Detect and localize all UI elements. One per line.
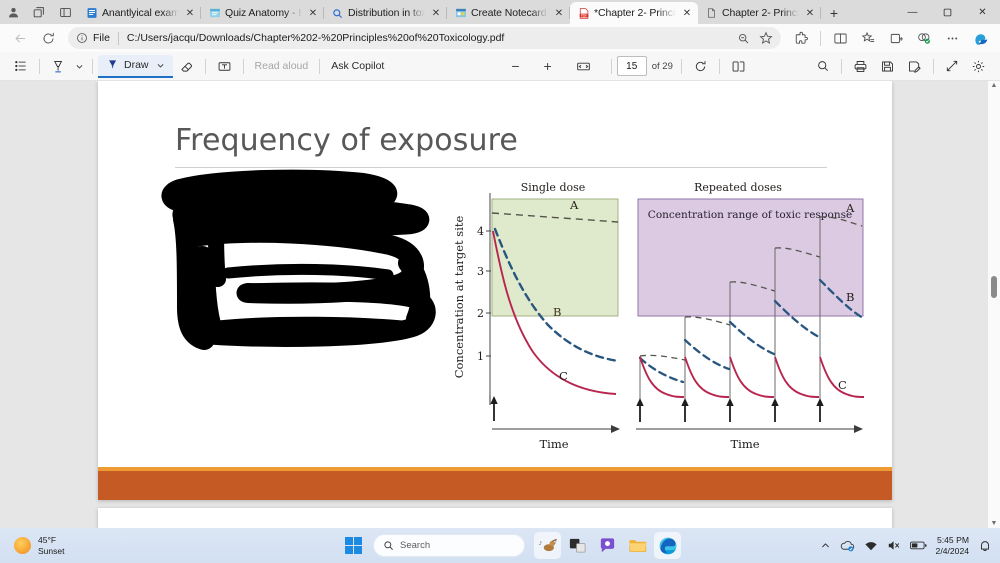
refresh-icon[interactable] [34, 26, 62, 50]
divider [39, 59, 40, 74]
doc-blue-icon [85, 7, 98, 20]
curve-label-B-single: B [553, 305, 561, 319]
pen-icon [106, 58, 120, 72]
zoom-out-icon[interactable] [737, 32, 750, 45]
search-placeholder: Search [400, 540, 430, 551]
onedrive-icon[interactable] [840, 539, 855, 552]
tab-actions-icon[interactable] [52, 0, 78, 24]
battery-icon[interactable] [910, 540, 927, 551]
zoom-in-button[interactable]: + [538, 56, 558, 77]
taskbar-center-group: Search ♪♪ [340, 532, 681, 559]
scroll-down-arrow[interactable]: ▼ [990, 520, 998, 527]
file-explorer-icon[interactable] [624, 532, 651, 559]
navigation-bar: File C:/Users/jacqu/Downloads/Chapter%20… [0, 24, 1000, 52]
star-icon[interactable] [759, 31, 773, 45]
copilot-icon[interactable] [966, 26, 994, 50]
dose-arrows-repeated [636, 398, 823, 422]
tab-close-icon[interactable]: ✕ [429, 6, 443, 20]
panel-label-single-dose: Single dose [521, 181, 586, 194]
slide-footer-band [98, 467, 892, 500]
new-tab-button[interactable]: + [821, 2, 847, 24]
divider [319, 59, 320, 74]
account-icon[interactable] [0, 0, 26, 24]
tab-close-icon[interactable]: ✕ [306, 6, 320, 20]
slide-footer-stripe [98, 467, 892, 471]
taskbar-app-icons: ♪♪ [534, 532, 681, 559]
taskbar-search-box[interactable]: Search [373, 534, 525, 557]
divider [205, 59, 206, 74]
weather-temperature: 45°F [38, 535, 64, 546]
curve-C-repeated [640, 357, 864, 397]
tabs-container: Anantlyical exam 1 - ✕ Quiz Anatomy - Ea… [78, 0, 895, 24]
favorites-icon[interactable] [854, 26, 882, 50]
svg-text:PDF: PDF [580, 13, 586, 17]
back-arrow-icon[interactable] [6, 26, 34, 50]
browser-window: Anantlyical exam 1 - ✕ Quiz Anatomy - Ea… [0, 0, 1000, 563]
file-icon [705, 7, 718, 20]
divider [92, 59, 93, 74]
svg-text:2: 2 [477, 307, 484, 320]
tab-strip: Anantlyical exam 1 - ✕ Quiz Anatomy - Ea… [0, 0, 1000, 24]
pdf-viewport[interactable]: Frequency of exposure Single dose Repeat… [0, 81, 1000, 528]
draw-tool-button[interactable]: Draw [98, 55, 173, 78]
page-total-label: of 29 [652, 61, 673, 72]
window-controls: — ✕ [895, 0, 1000, 24]
tab-title: Create Notecard Set [471, 7, 548, 19]
taskbar-time[interactable]: 5:45 PM [936, 535, 969, 546]
svg-text:4: 4 [477, 225, 484, 238]
tab-title: Distribution in toxic [348, 7, 425, 19]
x-axis-label-repeated: Time [730, 437, 759, 451]
panel-label-repeated-doses: Repeated doses [694, 181, 782, 194]
bullet-dot [180, 233, 184, 237]
notification-bell-icon[interactable] [978, 539, 992, 553]
curve-label-A-repeated: A [845, 201, 855, 215]
browser-tab-5-active[interactable]: PDF *Chapter 2- Principl ✕ [570, 2, 698, 24]
pdf-toolbar: Draw Read aloud Ask Copilot − + 15 of 29 [0, 52, 1000, 81]
windows-start-icon[interactable] [340, 532, 367, 559]
slide-bullet-list [180, 233, 184, 347]
browser-essentials-icon[interactable] [910, 26, 938, 50]
browser-tab-4[interactable]: Create Notecard Set ✕ [447, 2, 570, 24]
read-aloud-button[interactable]: Read aloud [249, 56, 315, 77]
eraser-icon[interactable] [173, 56, 200, 77]
fit-page-icon[interactable] [570, 56, 597, 77]
rotate-icon[interactable] [687, 56, 714, 77]
notecard-icon [454, 7, 467, 20]
tab-title: *Chapter 2- Principl [594, 7, 676, 19]
divider [719, 59, 720, 74]
ask-copilot-button[interactable]: Ask Copilot [325, 56, 390, 77]
maximize-button[interactable] [930, 0, 965, 24]
weather-widget[interactable]: 45°F Sunset [0, 535, 64, 557]
save-icon[interactable] [874, 56, 901, 77]
close-button[interactable]: ✕ [965, 0, 1000, 24]
pdf-page-16-partial [98, 508, 892, 528]
divider [820, 31, 821, 46]
split-screen-icon[interactable] [826, 26, 854, 50]
minimize-button[interactable]: — [895, 0, 930, 24]
page-view-icon[interactable] [725, 56, 752, 77]
tab-title: Quiz Anatomy - Eas [225, 7, 302, 19]
divider [611, 59, 612, 74]
weather-condition: Sunset [38, 546, 64, 557]
info-circle-icon[interactable] [76, 32, 88, 44]
system-tray: 5:45 PM 2/4/2024 [820, 535, 992, 557]
table-of-contents-icon[interactable] [8, 56, 34, 77]
browser-tab-6[interactable]: Chapter 2- Principle ✕ [698, 2, 821, 24]
tab-close-icon[interactable]: ✕ [183, 6, 197, 20]
draw-chevron-down-icon[interactable] [156, 61, 165, 70]
curve-label-C-single: C [559, 369, 568, 383]
wifi-icon[interactable] [864, 540, 878, 552]
highlight-chevron-down-icon[interactable] [72, 56, 87, 77]
gear-icon[interactable] [965, 56, 992, 77]
tab-title: Anantlyical exam 1 - [102, 7, 179, 19]
windows-taskbar: 45°F Sunset Search ♪♪ [0, 528, 1000, 563]
save-as-icon[interactable] [901, 56, 928, 77]
concentration-vs-time-chart: Single dose Repeated doses Concentration… [448, 177, 868, 452]
scroll-up-arrow[interactable]: ▲ [990, 82, 998, 89]
browser-tab-1[interactable]: Anantlyical exam 1 - ✕ [78, 2, 201, 24]
bullet-dot [180, 271, 184, 275]
x-axis-label-single: Time [539, 437, 568, 451]
volume-muted-icon[interactable] [887, 539, 901, 552]
title-underline [175, 167, 827, 168]
edge-icon[interactable] [654, 532, 681, 559]
collections-icon[interactable] [882, 26, 910, 50]
svg-text:♪: ♪ [538, 541, 541, 547]
chat-icon[interactable] [594, 532, 621, 559]
toxicology-figure: Single dose Repeated doses Concentration… [448, 177, 868, 452]
browser-tab-2[interactable]: Quiz Anatomy - Eas ✕ [201, 2, 324, 24]
taskbar-date[interactable]: 2/4/2024 [936, 546, 969, 557]
settings-more-icon[interactable] [938, 26, 966, 50]
quiz-icon [208, 7, 221, 20]
zoom-out-button[interactable]: − [505, 56, 525, 77]
url-text: C:/Users/jacqu/Downloads/Chapter%202-%20… [127, 32, 732, 44]
bullet-dot [180, 309, 184, 313]
curve-label-B-repeated: B [846, 290, 854, 304]
extension-puzzle-icon[interactable] [787, 26, 815, 50]
svg-text:1: 1 [477, 350, 484, 363]
svg-text:3: 3 [477, 265, 484, 278]
browser-toolbar-actions [787, 26, 994, 50]
add-text-icon[interactable] [211, 56, 238, 77]
divider [681, 59, 682, 74]
svg-text:♪: ♪ [553, 539, 556, 545]
task-view-icon[interactable] [564, 532, 591, 559]
print-icon[interactable] [847, 56, 874, 77]
address-bar[interactable]: File C:/Users/jacqu/Downloads/Chapter%20… [68, 27, 781, 49]
search-icon[interactable] [810, 56, 836, 77]
draw-label: Draw [124, 59, 149, 71]
pdf-icon: PDF [577, 7, 590, 20]
sunset-icon [14, 537, 31, 554]
black-ink-scribble [158, 167, 458, 367]
url-scheme-label: File [93, 32, 110, 44]
search-icon [331, 7, 344, 20]
tab-close-icon[interactable]: ✕ [803, 6, 817, 20]
curve-label-A-single: A [569, 198, 579, 212]
toxic-range-label: Concentration range of toxic response [648, 209, 852, 221]
highlighter-icon[interactable] [45, 56, 72, 77]
pdf-page-15: Frequency of exposure Single dose Repeat… [98, 81, 892, 500]
fullscreen-icon[interactable] [939, 56, 965, 77]
tab-close-icon[interactable]: ✕ [680, 6, 694, 20]
page-number-input[interactable]: 15 [617, 56, 647, 76]
divider [118, 32, 119, 45]
browser-tab-3[interactable]: Distribution in toxic ✕ [324, 2, 447, 24]
scrollbar-thumb[interactable] [991, 276, 997, 298]
search-icon [383, 540, 394, 551]
tab-title: Chapter 2- Principle [722, 7, 799, 19]
chevron-up-icon[interactable] [820, 540, 831, 551]
tab-close-icon[interactable]: ✕ [552, 6, 566, 20]
y-axis-label: Concentration at target site [452, 216, 466, 379]
slide-title: Frequency of exposure [175, 123, 825, 158]
vertical-scrollbar[interactable]: ▲ ▼ [988, 81, 1000, 528]
toxic-range-band-green [492, 199, 618, 316]
y-axis-ticks: 4 3 2 1 [477, 225, 491, 363]
copilot-taskview-icon[interactable]: ♪♪ [534, 532, 561, 559]
dose-arrow-single [490, 396, 497, 421]
curve-label-C-repeated: C [838, 378, 847, 392]
collections-icon[interactable] [26, 0, 52, 24]
divider [933, 59, 934, 74]
divider [243, 59, 244, 74]
divider [841, 59, 842, 74]
